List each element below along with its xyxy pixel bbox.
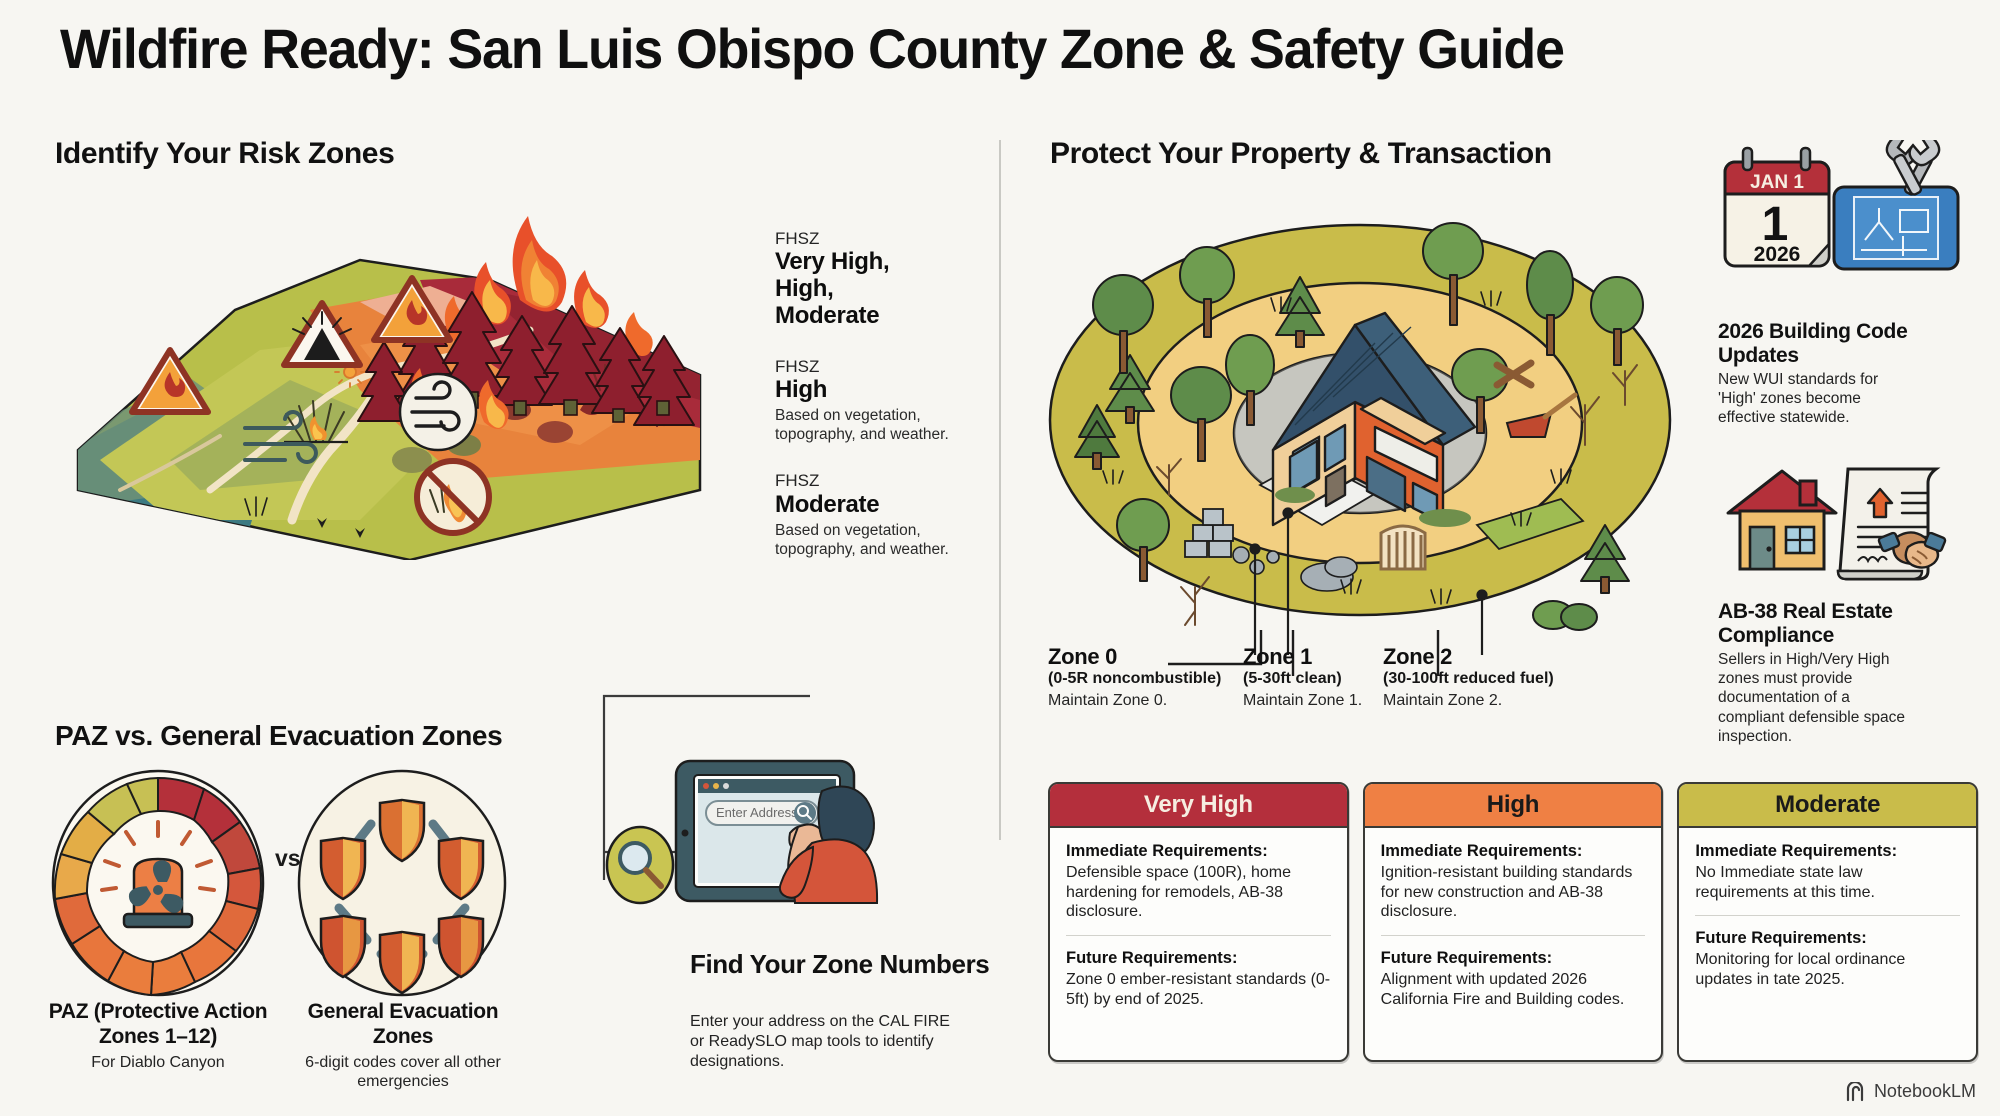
immediate-text: Defensible space (100R), home hardening … (1066, 863, 1331, 922)
fhsz-label: Very High,High,Moderate (775, 249, 960, 330)
no-fire-icon (417, 461, 489, 533)
fhsz-label: Moderate (775, 492, 960, 519)
paz-caption-subtitle: For Diablo Canyon (48, 1053, 268, 1073)
panel-divider (999, 140, 1001, 840)
zone-callouts: Zone 0 (0-5R noncombustible) Maintain Zo… (1048, 645, 1688, 745)
fhsz-description: Based on vegetation, topography, and wea… (775, 406, 960, 444)
paz-caption: PAZ (Protective Action Zones 1–12) For D… (48, 1000, 268, 1072)
paz-siren-emblem (48, 768, 268, 998)
code-update-icons: JAN 1 1 2026 (1715, 140, 1980, 295)
zone-callout-name: Zone 0 (1048, 645, 1258, 668)
fhsz-description: Based on vegetation, topography, and wea… (775, 521, 960, 559)
immediate-label: Immediate Requirements: (1066, 842, 1331, 862)
future-requirements: Future Requirements: Monitoring for loca… (1695, 929, 1960, 989)
tier-card-header: Very High (1050, 784, 1347, 828)
ab38-title: AB-38 Real Estate Compliance (1718, 600, 1918, 647)
immediate-requirements: Immediate Requirements: No Immediate sta… (1695, 842, 1960, 902)
ab38-note: AB-38 Real Estate Compliance Sellers in … (1718, 600, 1918, 746)
fhsz-label: High (775, 377, 960, 404)
siren-radial-zones-icon (48, 768, 268, 998)
contract-handshake-icon (1838, 469, 1946, 579)
watermark-label: NotebookLM (1874, 1081, 1976, 1102)
calendar-icon: JAN 1 1 2026 (1725, 148, 1829, 266)
shield-cluster-icon (295, 768, 510, 998)
code-update-note: 2026 Building Code Updates New WUI stand… (1718, 320, 1918, 428)
future-label: Future Requirements: (1381, 949, 1646, 969)
immediate-text: Ignition-resistant building standards fo… (1381, 863, 1646, 922)
find-zone-description: Enter your address on the CAL FIRE or Re… (690, 1012, 960, 1072)
calendar-month-day: JAN 1 (1750, 172, 1804, 193)
wildfire-terrain-illustration (60, 160, 760, 560)
find-zone-tablet-illustration: Enter Address... (672, 755, 972, 955)
find-zone-title: Find Your Zone Numbers (690, 950, 989, 979)
fhsz-kicker: FHSZ (775, 356, 960, 377)
magnifier-icon (597, 820, 683, 910)
immediate-label: Immediate Requirements: (1381, 842, 1646, 862)
tier-card-header: High (1365, 784, 1662, 828)
future-text: Monitoring for local ordinance updates i… (1695, 950, 1960, 990)
right-panel-heading: Protect Your Property & Transaction (1050, 137, 1552, 171)
tier-card-high: High Immediate Requirements: Ignition-re… (1363, 782, 1664, 1062)
fhsz-kicker: FHSZ (775, 228, 960, 249)
ab38-body: Sellers in High/Very High zones must pro… (1718, 650, 1918, 746)
magnifier-badge (597, 820, 683, 915)
tier-card-moderate: Moderate Immediate Requirements: No Imme… (1677, 782, 1978, 1062)
fhsz-item: FHSZ Moderate Based on vegetation, topog… (775, 470, 960, 559)
general-evac-caption: General Evacuation Zones 6-digit codes c… (288, 1000, 518, 1092)
future-label: Future Requirements: (1066, 949, 1331, 969)
immediate-text: No Immediate state law requirements at t… (1695, 863, 1960, 903)
page-title: Wildfire Ready: San Luis Obispo County Z… (60, 16, 1884, 81)
zone-callout-name: Zone 2 (1383, 645, 1623, 668)
fhsz-legend: FHSZ Very High,High,Moderate FHSZ High B… (775, 228, 960, 585)
zone-callout-action: Maintain Zone 2. (1383, 691, 1623, 711)
zone-callout-range: (30-100ft reduced fuel) (1383, 669, 1623, 689)
notebooklm-logo-icon (1845, 1082, 1867, 1102)
defensible-space-illustration (1045, 195, 1675, 655)
code-update-title: 2026 Building Code Updates (1718, 320, 1918, 367)
card-divider (1066, 935, 1331, 936)
immediate-requirements: Immediate Requirements: Ignition-resista… (1381, 842, 1646, 922)
paz-section-heading: PAZ vs. General Evacuation Zones (55, 720, 502, 752)
immediate-requirements: Immediate Requirements: Defensible space… (1066, 842, 1331, 922)
calendar-year: 2026 (1754, 243, 1801, 266)
general-evac-caption-subtitle: 6-digit codes cover all other emergencie… (288, 1053, 518, 1092)
card-divider (1381, 935, 1646, 936)
general-evac-emblem (295, 768, 510, 998)
blueprint-wrench-icon (1834, 140, 1958, 269)
fhsz-item: FHSZ Very High,High,Moderate (775, 228, 960, 330)
future-text: Zone 0 ember-resistant standards (0-5ft)… (1066, 970, 1331, 1010)
zone-callout: Zone 2 (30-100ft reduced fuel) Maintain … (1383, 645, 1623, 711)
paz-caption-title: PAZ (Protective Action Zones 1–12) (48, 1000, 268, 1050)
general-evac-caption-title: General Evacuation Zones (288, 1000, 518, 1050)
future-requirements: Future Requirements: Alignment with upda… (1381, 949, 1646, 1009)
code-update-body: New WUI standards for 'High' zones becom… (1718, 370, 1918, 428)
house-icon (1728, 471, 1836, 569)
watermark: NotebookLM (1845, 1081, 1976, 1102)
tier-card-header: Moderate (1679, 784, 1976, 828)
future-text: Alignment with updated 2026 California F… (1381, 970, 1646, 1010)
tier-card-very-high: Very High Immediate Requirements: Defens… (1048, 782, 1349, 1062)
wind-icon (400, 374, 476, 450)
zone-callout-range: (0-5R noncombustible) (1048, 669, 1258, 689)
future-requirements: Future Requirements: Zone 0 ember-resist… (1066, 949, 1331, 1009)
fhsz-kicker: FHSZ (775, 470, 960, 491)
zone-callout-action: Maintain Zone 0. (1048, 691, 1258, 711)
ab38-icons (1712, 455, 1982, 595)
immediate-label: Immediate Requirements: (1695, 842, 1960, 862)
future-label: Future Requirements: (1695, 929, 1960, 949)
card-divider (1695, 915, 1960, 916)
fhsz-item: FHSZ High Based on vegetation, topograph… (775, 356, 960, 445)
zone-callout: Zone 0 (0-5R noncombustible) Maintain Zo… (1048, 645, 1258, 711)
tier-cards: Very High Immediate Requirements: Defens… (1048, 782, 1978, 1062)
